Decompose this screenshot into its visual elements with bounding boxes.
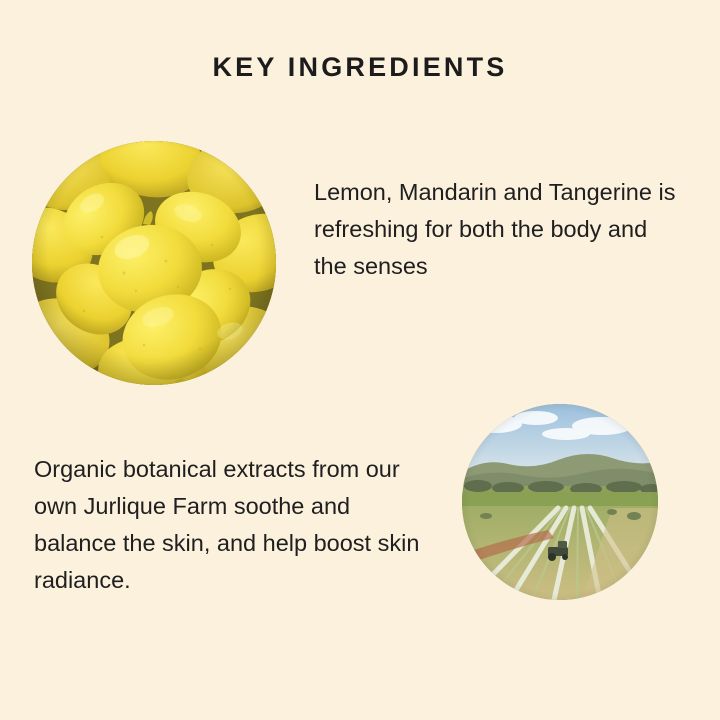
key-ingredients-panel: KEY INGREDIENTS [0, 0, 720, 720]
farm-description: Organic botanical extracts from our own … [34, 451, 438, 599]
lemons-illustration [32, 141, 276, 385]
jurlique-farm-photo [462, 404, 658, 600]
lemons-description: Lemon, Mandarin and Tangerine is refresh… [314, 174, 686, 285]
farm-illustration [462, 404, 658, 600]
lemons-photo [32, 141, 276, 385]
page-title: KEY INGREDIENTS [0, 52, 720, 83]
